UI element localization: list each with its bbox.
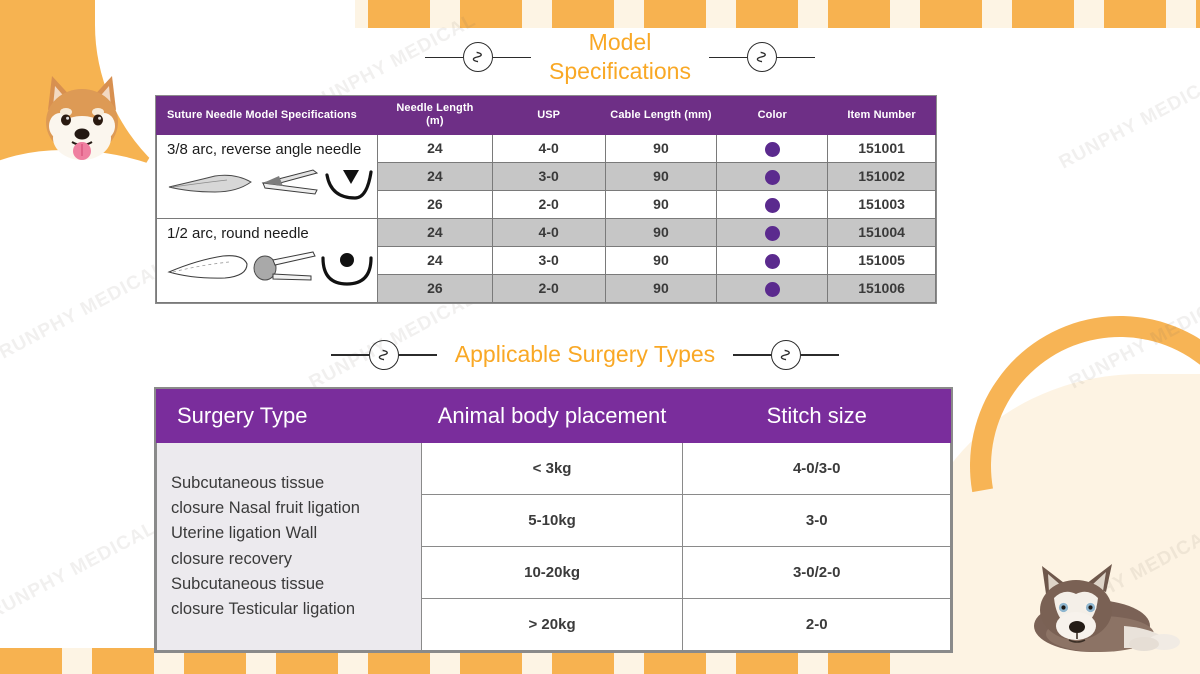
cell-item-number: 151005 — [828, 246, 936, 274]
needle-type-label: 3/8 arc, reverse angle needle — [167, 141, 377, 158]
cell-animal-body-placement: 5-10kg — [421, 495, 683, 547]
cell-cable-length: 90 — [605, 134, 717, 162]
cell-color — [717, 246, 828, 274]
color-swatch-icon — [765, 142, 780, 157]
cell-item-number: 151002 — [828, 162, 936, 190]
cell-needle-length: 24 — [377, 246, 492, 274]
column-header-animal-body-placement: Animal body placement — [421, 390, 683, 443]
cell-needle-length: 26 — [377, 190, 492, 218]
color-swatch-icon — [765, 282, 780, 297]
surgery-line: Subcutaneous tissue — [171, 575, 324, 593]
column-header-surgery-type: Surgery Type — [157, 390, 422, 443]
decorative-divider-left: ∿ — [425, 42, 531, 72]
round-needle-icon — [167, 246, 373, 288]
surgery-line: closure Nasal fruit ligation — [171, 499, 360, 517]
cell-usp: 4-0 — [492, 218, 605, 246]
decorative-divider-right: ∿ — [709, 42, 815, 72]
cell-needle-length: 24 — [377, 218, 492, 246]
cell-item-number: 151004 — [828, 218, 936, 246]
needle-type-label: 1/2 arc, round needle — [167, 225, 377, 242]
color-swatch-icon — [765, 170, 780, 185]
cell-animal-body-placement: 10-20kg — [421, 547, 683, 599]
cell-usp: 3-0 — [492, 246, 605, 274]
cell-color — [717, 190, 828, 218]
cell-usp: 2-0 — [492, 190, 605, 218]
decorative-divider-right: ∿ — [733, 340, 839, 370]
cell-item-number: 151003 — [828, 190, 936, 218]
surgery-line: Subcutaneous tissue — [171, 474, 324, 492]
section-title-line1: Model — [589, 29, 652, 55]
cell-item-number: 151001 — [828, 134, 936, 162]
table-row: Subcutaneous tissue closure Nasal fruit … — [157, 443, 951, 495]
cell-animal-body-placement: < 3kg — [421, 443, 683, 495]
cell-cable-length: 90 — [605, 218, 717, 246]
cell-color — [717, 162, 828, 190]
surgery-line: closure Testicular ligation — [171, 600, 355, 618]
cell-cable-length: 90 — [605, 190, 717, 218]
color-swatch-icon — [765, 198, 780, 213]
section-header-model-specifications: ∿ Model Specifications ∿ — [410, 28, 830, 87]
cell-stitch-size: 3-0/2-0 — [683, 547, 951, 599]
surgery-type-description-cell: Subcutaneous tissue closure Nasal fruit … — [157, 443, 422, 651]
reverse-cutting-needle-icon — [167, 162, 373, 204]
dog-photo-husky-puppy — [1020, 560, 1190, 655]
cell-color — [717, 218, 828, 246]
cell-cable-length: 90 — [605, 246, 717, 274]
infinity-glyph-icon: ∿ — [771, 340, 801, 370]
cell-stitch-size: 4-0/3-0 — [683, 443, 951, 495]
infinity-glyph-icon: ∿ — [747, 42, 777, 72]
applicable-surgery-types-table: Surgery Type Animal body placement Stitc… — [156, 389, 951, 651]
cell-animal-body-placement: > 20kg — [421, 599, 683, 651]
cell-color — [717, 134, 828, 162]
section-title: Applicable Surgery Types — [455, 340, 715, 369]
decorative-divider-left: ∿ — [331, 340, 437, 370]
column-header-usp: USP — [492, 97, 605, 135]
section-title: Model Specifications — [549, 28, 691, 87]
model-specifications-table: Suture Needle Model Specifications Needl… — [156, 96, 936, 303]
cell-needle-length: 24 — [377, 134, 492, 162]
column-header-stitch-size: Stitch size — [683, 390, 951, 443]
cell-usp: 3-0 — [492, 162, 605, 190]
dog-photo-shiba-inu — [22, 60, 142, 170]
section-header-applicable-surgery-types: ∿ Applicable Surgery Types ∿ — [320, 340, 850, 370]
cell-stitch-size: 2-0 — [683, 599, 951, 651]
cell-color — [717, 274, 828, 302]
section-title-line2: Specifications — [549, 58, 691, 84]
color-swatch-icon — [765, 254, 780, 269]
cell-cable-length: 90 — [605, 162, 717, 190]
cell-usp: 4-0 — [492, 134, 605, 162]
needle-length-line1: Needle Length — [396, 102, 473, 114]
table-header-row: Surgery Type Animal body placement Stitc… — [157, 390, 951, 443]
needle-length-line2: (m) — [426, 115, 443, 127]
color-swatch-icon — [765, 226, 780, 241]
needle-spec-cell-round: 1/2 arc, round needle — [157, 218, 378, 302]
watermark: RUNPHY MEDICAL — [0, 518, 160, 625]
column-header-color: Color — [717, 97, 828, 135]
cell-needle-length: 26 — [377, 274, 492, 302]
table-row: 3/8 arc, reverse angle needle 2 — [157, 134, 936, 162]
column-header-needle-length: Needle Length (m) — [377, 97, 492, 135]
column-header-item-number: Item Number — [828, 97, 936, 135]
cell-usp: 2-0 — [492, 274, 605, 302]
cell-item-number: 151006 — [828, 274, 936, 302]
cell-needle-length: 24 — [377, 162, 492, 190]
table-header-row: Suture Needle Model Specifications Needl… — [157, 97, 936, 135]
infinity-glyph-icon: ∿ — [369, 340, 399, 370]
surgery-line: Uterine ligation Wall — [171, 524, 317, 542]
surgery-line: closure recovery — [171, 550, 292, 568]
table-row: 1/2 arc, round needle 24 4-0 90 15100 — [157, 218, 936, 246]
watermark: RUNPHY MEDICAL — [1056, 68, 1200, 175]
cell-cable-length: 90 — [605, 274, 717, 302]
column-header-spec: Suture Needle Model Specifications — [157, 97, 378, 135]
cell-stitch-size: 3-0 — [683, 495, 951, 547]
infinity-glyph-icon: ∿ — [463, 42, 493, 72]
needle-spec-cell-reverse-cutting: 3/8 arc, reverse angle needle — [157, 134, 378, 218]
column-header-cable-length: Cable Length (mm) — [605, 97, 717, 135]
